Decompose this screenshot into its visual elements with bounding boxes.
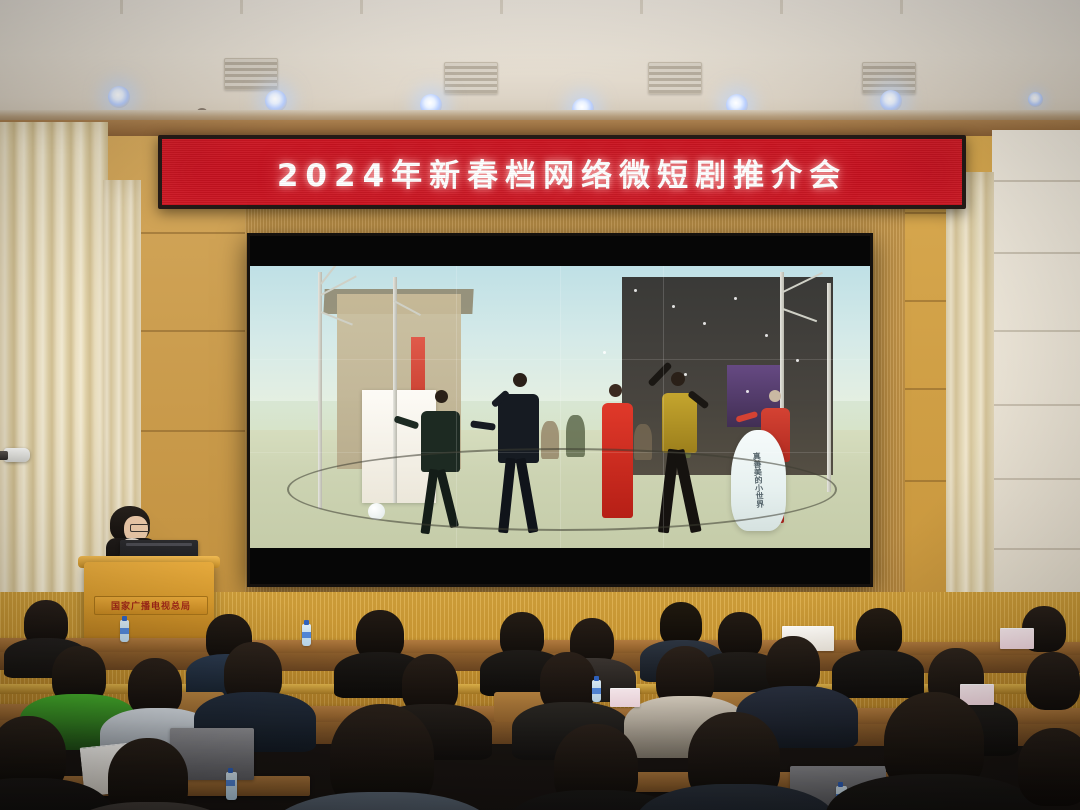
curtain-right — [946, 172, 994, 652]
audience-area — [0, 596, 1080, 810]
attendee-head — [1018, 728, 1080, 806]
glasses-icon — [130, 524, 150, 532]
ceiling — [0, 0, 1080, 122]
attendee-head — [1026, 652, 1080, 710]
attendee-shoulders — [832, 650, 924, 698]
water-bottle — [302, 624, 311, 646]
water-bottle — [592, 680, 601, 702]
name-card — [1000, 628, 1034, 649]
video-letterbox-top — [250, 236, 870, 266]
attendee-head — [108, 738, 188, 810]
water-bottle — [226, 772, 237, 800]
ceiling-spotlight — [880, 90, 902, 112]
water-bottle — [120, 620, 129, 642]
attendee-head — [856, 608, 902, 656]
security-camera — [4, 448, 30, 462]
stone-wall-right — [992, 130, 1080, 630]
conference-hall-photo: 2024年新春档网络微短剧推介会 — [0, 0, 1080, 810]
led-video-wall: 真善美的小世界 — [247, 233, 873, 587]
video-letterbox-bottom — [250, 548, 870, 584]
name-card — [610, 688, 640, 707]
ceiling-spotlight — [108, 86, 130, 108]
ceiling-vent — [648, 62, 702, 94]
banner-title-text: 2024年新春档网络微短剧推介会 — [277, 150, 847, 195]
tree-far-right — [827, 283, 831, 492]
ceiling-vent — [444, 62, 498, 94]
video-content: 真善美的小世界 — [250, 266, 870, 548]
led-banner: 2024年新春档网络微短剧推介会 — [158, 135, 966, 209]
ceiling-vent — [224, 58, 278, 90]
ceiling-spotlight — [1028, 92, 1043, 107]
ceiling-spotlight — [265, 90, 287, 112]
